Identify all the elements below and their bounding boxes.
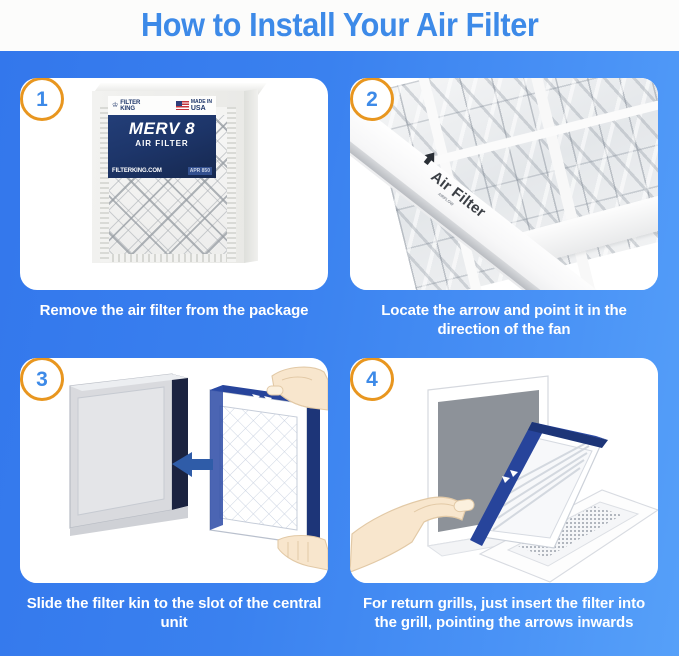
merv-subtitle: AIR FILTER (108, 139, 216, 148)
step-3-number: 3 (36, 369, 48, 390)
steps-background: ♔ FILTER KING (0, 51, 679, 656)
step-2-number: 2 (366, 89, 378, 110)
hand-bottom (278, 536, 328, 571)
filter-king-logo: ♔ FILTER KING (112, 100, 140, 112)
made-in-usa-badge: MADE IN USA (176, 100, 212, 112)
air-filter-panel (210, 385, 320, 544)
crown-icon: ♔ (112, 102, 118, 109)
step-2-caption: Locate the arrow and point it in the dir… (350, 301, 658, 339)
filter-front-face: ♔ FILTER KING (92, 91, 244, 263)
slide-filter-illustration (20, 358, 328, 583)
step-1-badge: 1 (20, 78, 64, 121)
return-grill-illustration (350, 358, 658, 583)
filter-side-face (244, 89, 258, 263)
product-label: ♔ FILTER KING (108, 96, 216, 178)
step-1: ♔ FILTER KING (20, 78, 328, 320)
step-2-badge: 2 (350, 78, 394, 121)
step-3-caption: Slide the filter kin to the slot of the … (20, 594, 328, 632)
step-3: 3 Slide the filter kin to the slot of th… (20, 358, 328, 632)
step-4-badge: 4 (350, 358, 394, 401)
usa-flag-icon (176, 101, 189, 110)
boxed-air-filter-photo: ♔ FILTER KING (92, 83, 264, 263)
filter-corner-photo: Air Filter AIRFLOW (350, 78, 658, 290)
step-2: Air Filter AIRFLOW 2 Locate the arrow an… (350, 78, 658, 339)
step-4-card: 4 (350, 358, 658, 583)
central-unit-slot (70, 374, 188, 536)
step-3-card: 3 (20, 358, 328, 583)
page-title: How to Install Your Air Filter (141, 8, 539, 41)
made-in-text: MADE IN (191, 99, 212, 105)
label-header-strip: ♔ FILTER KING (108, 96, 216, 115)
step-4-number: 4 (366, 369, 378, 390)
step-2-card: Air Filter AIRFLOW 2 (350, 78, 658, 290)
apr-code: APR 850 (188, 167, 212, 175)
website-text: FILTERKING.COM (112, 168, 162, 174)
filter-frame-bottom (100, 254, 236, 262)
header-band: How to Install Your Air Filter (0, 0, 679, 51)
merv-rating: MERV 8 (108, 120, 216, 137)
country-text: USA (191, 105, 212, 112)
step-1-card: ♔ FILTER KING (20, 78, 328, 290)
step-1-number: 1 (36, 89, 48, 110)
step-4: 4 For return grills, just insert the fil… (350, 358, 658, 632)
step-4-caption: For return grills, just insert the filte… (350, 594, 658, 632)
filter-frame-right (227, 107, 236, 262)
step-1-caption: Remove the air filter from the package (20, 301, 328, 320)
brand-line-2: KING (120, 106, 135, 112)
infographic-page: How to Install Your Air Filter (0, 0, 679, 656)
step-3-badge: 3 (20, 358, 64, 401)
